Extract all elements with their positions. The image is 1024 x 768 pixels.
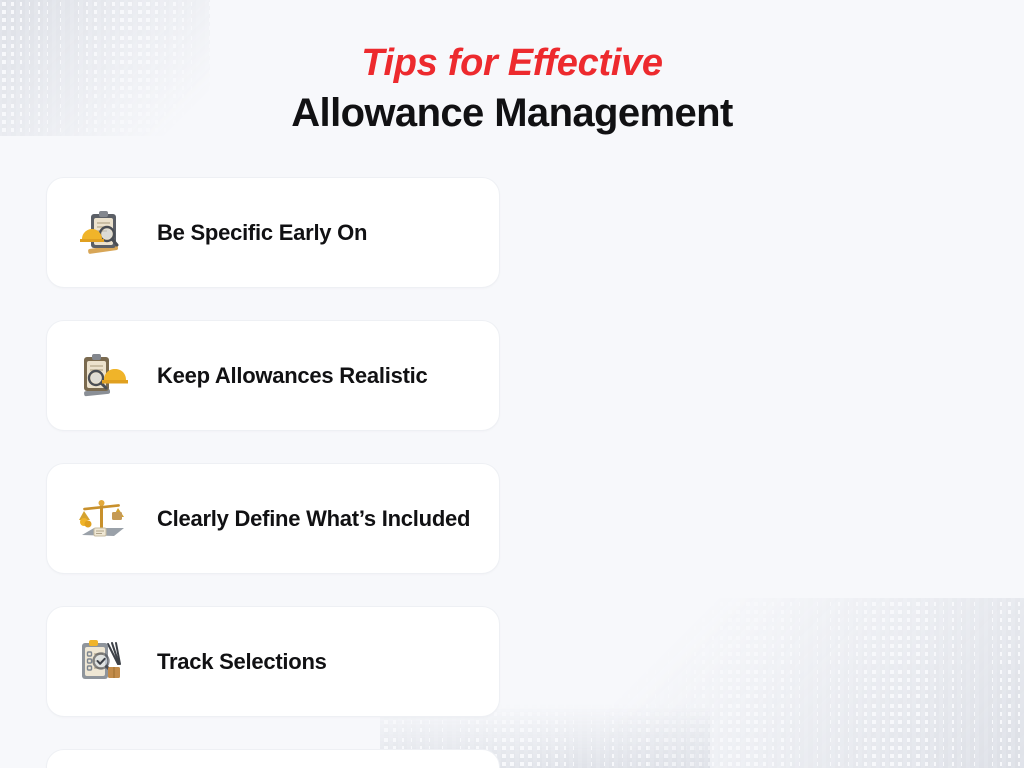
- tip-card-label: Clearly Define What’s Included: [157, 506, 470, 532]
- checklist-magnifier-icon: [71, 631, 133, 693]
- tip-card-label: Track Selections: [157, 649, 327, 675]
- tip-card[interactable]: Clearly Define What’s Included: [46, 463, 500, 574]
- balance-scale-money-icon: [71, 488, 133, 550]
- tip-card[interactable]: Keep Allowances Realistic: [46, 320, 500, 431]
- page-header: Tips for Effective Allowance Management: [0, 0, 1024, 140]
- tip-card-label: Be Specific Early On: [157, 220, 367, 246]
- clipboard-magnifier-hardhat-icon: [71, 202, 133, 264]
- tips-card-grid: Be Specific Early On Keep Allowances Rea…: [46, 177, 978, 768]
- clipboard-magnifier-hardhat-icon: [71, 345, 133, 407]
- tip-card[interactable]: Communicate Variation: [46, 749, 500, 768]
- page-title: Allowance Management: [0, 86, 1024, 140]
- page-title-accent: Tips for Effective: [0, 40, 1024, 86]
- tip-card[interactable]: Be Specific Early On: [46, 177, 500, 288]
- tip-card[interactable]: Track Selections: [46, 606, 500, 717]
- tip-card-label: Keep Allowances Realistic: [157, 363, 428, 389]
